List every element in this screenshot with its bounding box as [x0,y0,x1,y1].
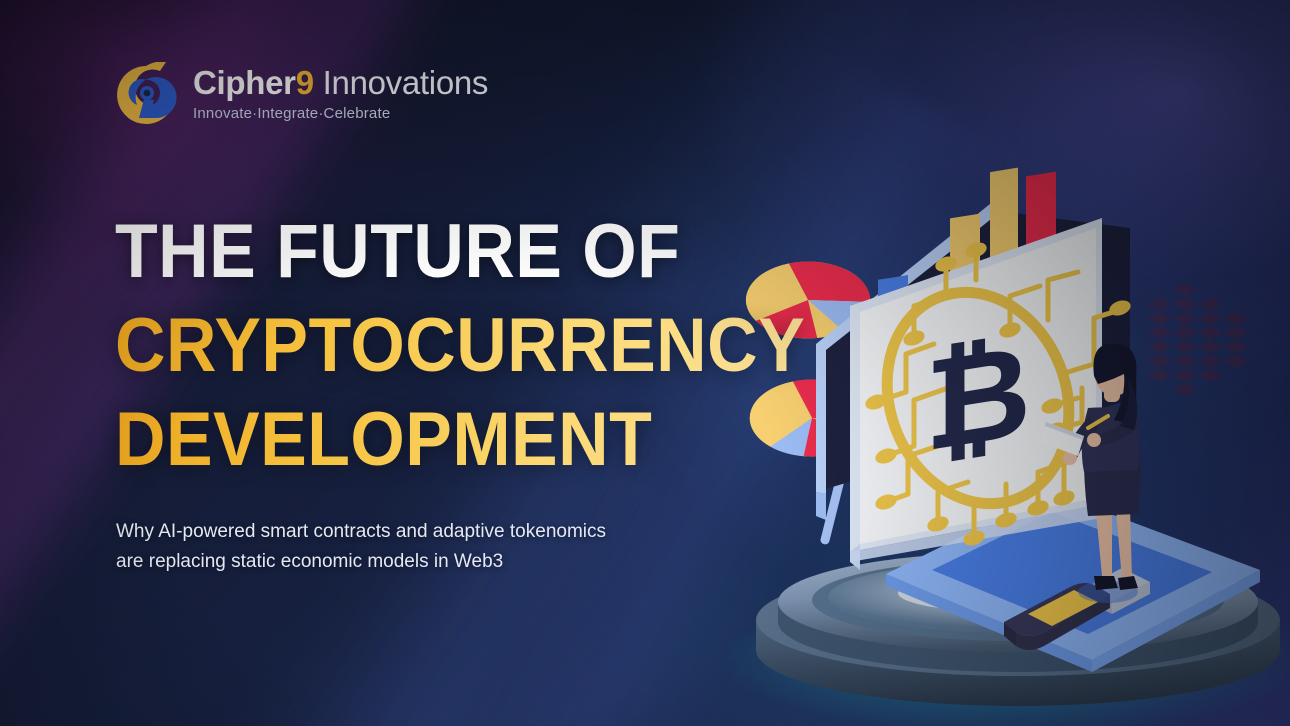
subtitle-group: Why AI-powered smart contracts and adapt… [116,517,736,577]
brand-tagline: Innovate·Integrate·Celebrate [193,104,488,124]
subtitle-line-1: Why AI-powered smart contracts and adapt… [116,517,736,547]
laptop-screen: ₿ [850,218,1133,570]
headline-line-1: THE FUTURE OF [115,205,805,299]
headline-group: THE FUTURE OF CRYPTOCURRENCY DEVELOPMENT [115,205,865,487]
brand-name-bold: Cipher [193,64,296,101]
cipher9-logo-icon [113,62,179,128]
bitcoin-symbol: ₿ [925,317,1031,477]
hero-banner: ₿ [0,0,1290,726]
brand-name-accent: 9 [296,64,314,101]
headline-line-2: CRYPTOCURRENCY [115,299,805,393]
brand-name-light: Innovations [314,64,488,101]
subtitle-line-2: are replacing static economic models in … [116,547,736,577]
brand-name: Cipher9 Innovations [193,64,488,102]
headline-line-3: DEVELOPMENT [115,393,805,487]
brand-logo[interactable]: Cipher9 Innovations Innovate·Integrate·C… [113,58,488,128]
